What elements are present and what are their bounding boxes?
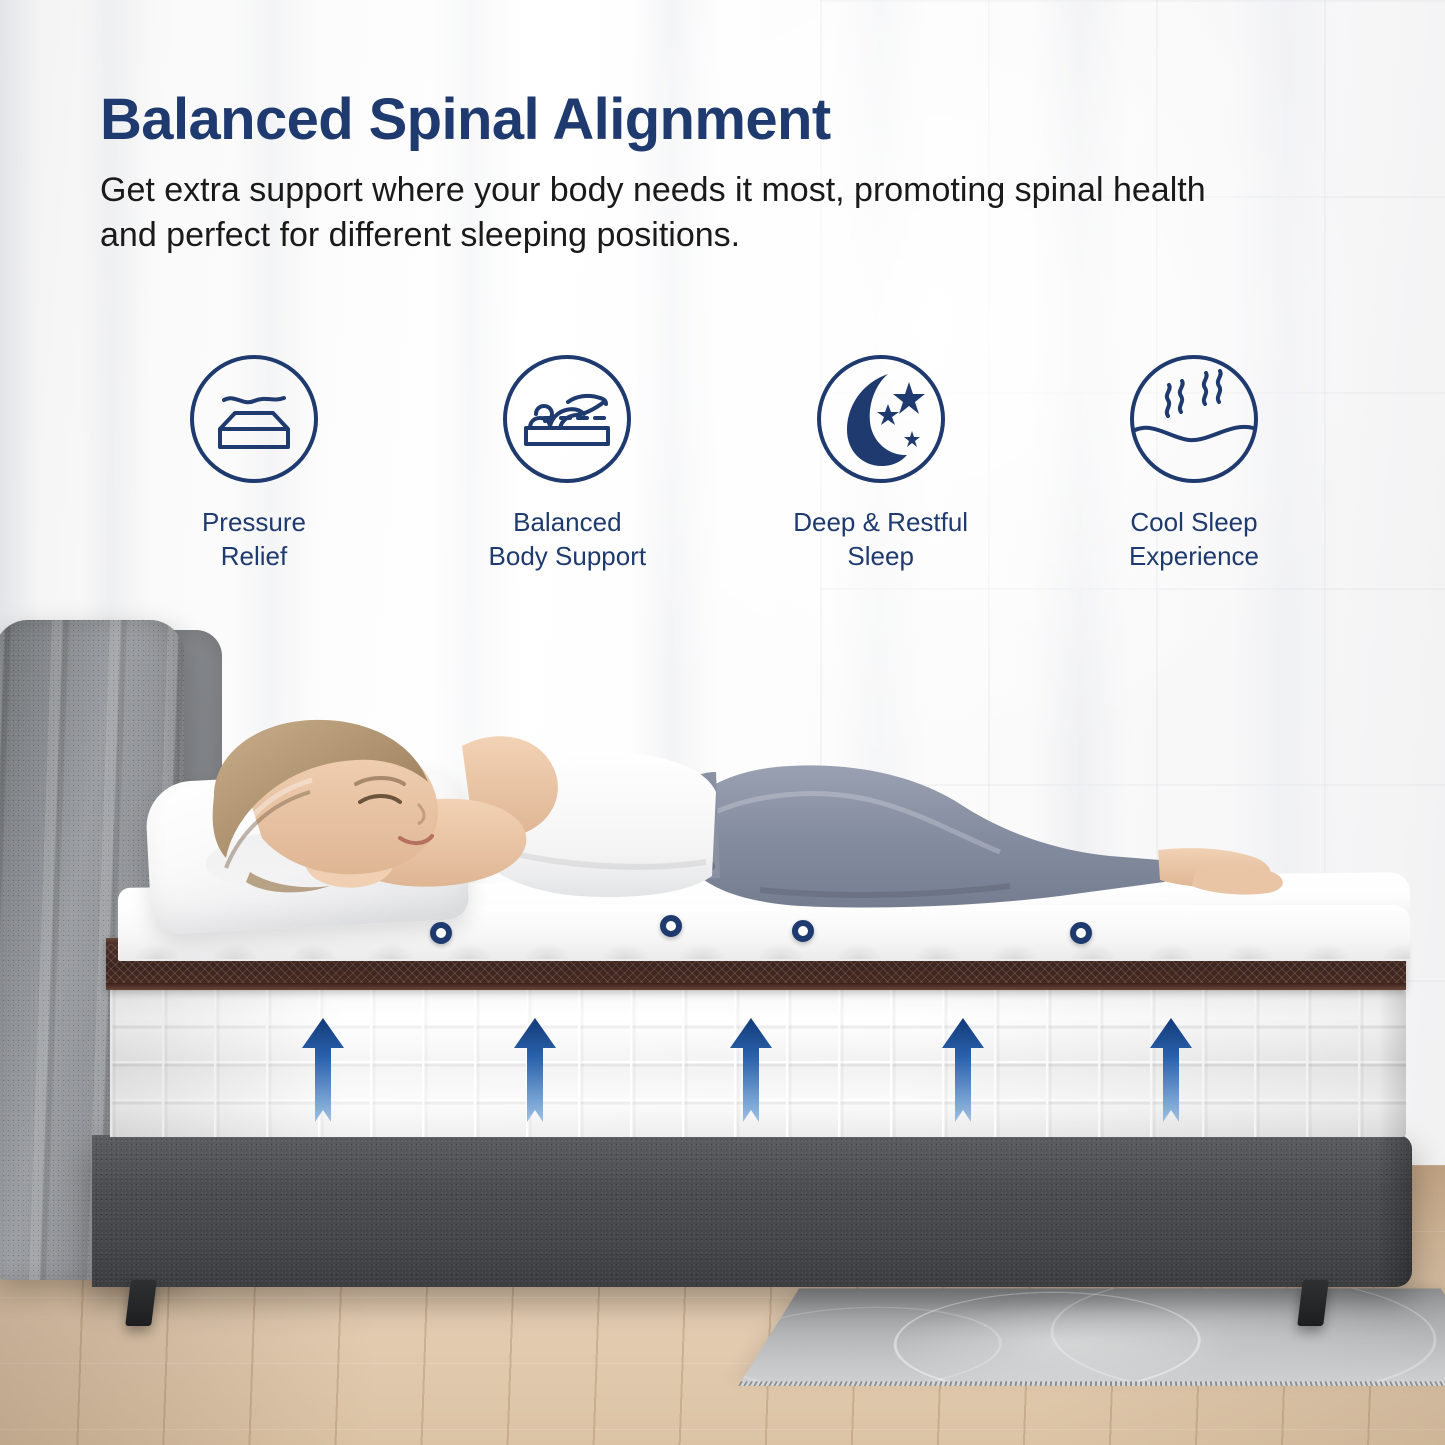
alignment-marker-4 bbox=[1070, 922, 1092, 944]
pajama-pants bbox=[688, 765, 1173, 907]
star-large bbox=[893, 382, 925, 414]
page-subtitle: Get extra support where your body needs … bbox=[100, 168, 1230, 258]
feature-label: Deep & Restful Sleep bbox=[793, 506, 968, 574]
airflow-horizon-wave bbox=[1135, 427, 1253, 440]
alignment-marker-2 bbox=[660, 915, 682, 937]
support-arrow-3 bbox=[728, 1018, 774, 1136]
sleeping-person bbox=[0, 700, 1340, 950]
mattress-wave-icon bbox=[187, 352, 321, 486]
alignment-marker-3 bbox=[792, 920, 814, 942]
rug-fringe bbox=[738, 1381, 1445, 1385]
feature-label: Balanced Body Support bbox=[489, 506, 647, 574]
page-title: Balanced Spinal Alignment bbox=[100, 86, 831, 153]
support-arrow-2 bbox=[512, 1018, 558, 1136]
support-arrow-4 bbox=[940, 1018, 986, 1136]
bed-base bbox=[92, 1135, 1412, 1287]
star-medium bbox=[877, 404, 899, 425]
feature-item-cool-sleep-experience[interactable]: Cool Sleep Experience bbox=[1044, 352, 1344, 574]
bed-base-fabric-texture bbox=[92, 1135, 1412, 1287]
mattress-side-right-face bbox=[1378, 985, 1406, 1137]
area-rug bbox=[740, 1289, 1445, 1383]
feature-label: Cool Sleep Experience bbox=[1129, 506, 1259, 574]
feature-item-balanced-body-support[interactable]: Balanced Body Support bbox=[417, 352, 717, 574]
bed-base-right-face bbox=[1376, 1135, 1412, 1287]
feature-item-pressure-relief[interactable]: Pressure Relief bbox=[104, 352, 404, 574]
person-on-mattress-aligned-icon bbox=[500, 352, 634, 486]
mesh-bottom-edge bbox=[106, 983, 1406, 990]
alignment-marker-1 bbox=[430, 922, 452, 944]
star-small bbox=[904, 431, 920, 447]
feature-list: Pressure Relief Balanced Body Support bbox=[104, 352, 1344, 574]
rug-pattern bbox=[740, 1289, 1445, 1383]
airflow-cooling-icon bbox=[1127, 352, 1261, 486]
feature-item-deep-restful-sleep[interactable]: Deep & Restful Sleep bbox=[731, 352, 1031, 574]
support-arrow-1 bbox=[300, 1018, 346, 1136]
support-arrow-5 bbox=[1148, 1018, 1194, 1136]
product-marketing-scene: Balanced Spinal Alignment Get extra supp… bbox=[0, 0, 1445, 1445]
crescent-moon bbox=[847, 374, 907, 466]
crescent-moon-stars-icon bbox=[814, 352, 948, 486]
feature-label: Pressure Relief bbox=[202, 506, 306, 574]
